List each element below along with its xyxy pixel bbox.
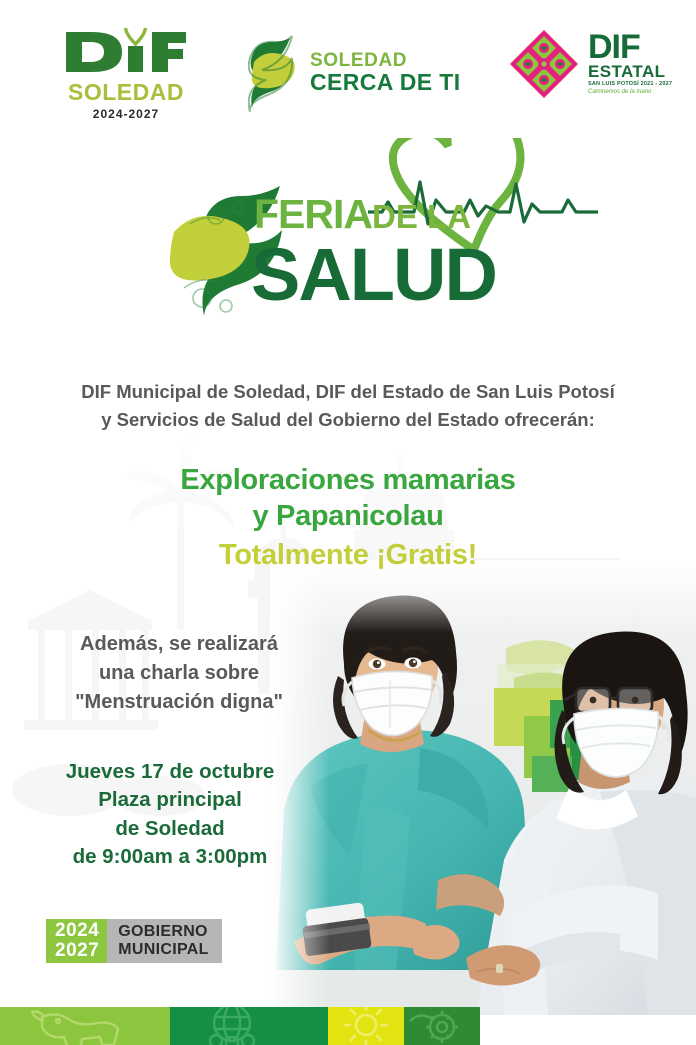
strip-cell-gear xyxy=(404,1007,480,1045)
intro-line-1: DIF Municipal de Soledad, DIF del Estado… xyxy=(0,378,696,406)
header-logos: SOLEDAD 2024-2027 SOLEDAD CERCA DE TI xyxy=(0,0,696,132)
dif-estatal-state-years: SAN LUIS POTOSÍ 2021 - 2027 xyxy=(588,81,672,89)
extra-line-1: Además, se realizará xyxy=(14,630,344,659)
gov-year-to: 2027 xyxy=(55,941,99,961)
soledad-label: SOLEDAD xyxy=(310,51,461,70)
dif-wordmark-icon xyxy=(62,28,190,76)
service-line-2: y Papanicolau xyxy=(0,498,696,534)
service-free-label: Totalmente ¡Gratis! xyxy=(0,537,696,575)
dif-soledad-logo: SOLEDAD 2024-2027 xyxy=(62,28,190,121)
dif-soledad-subtitle: SOLEDAD xyxy=(62,81,190,104)
title-feria-word: FERIA xyxy=(254,191,372,237)
embroidery-cross-icon xyxy=(508,28,580,100)
event-place-line-1: Plaza principal xyxy=(14,786,326,814)
gear-icon xyxy=(404,1007,480,1045)
event-details: Jueves 17 de octubre Plaza principal de … xyxy=(14,758,326,871)
gobierno-municipal-badge: 2024 2027 GOBIERNO MUNICIPAL xyxy=(46,919,222,963)
title-line-2: SALUD xyxy=(251,238,496,312)
gov-name-line-2: MUNICIPAL xyxy=(118,941,208,959)
dif-estatal-logo: DIF ESTATAL SAN LUIS POTOSÍ 2021 - 2027 … xyxy=(508,28,676,100)
strip-cell-cow xyxy=(0,1007,170,1045)
globe-icon xyxy=(170,1007,328,1045)
cerca-de-ti-label: CERCA DE TI xyxy=(310,70,461,94)
extra-line-2: una charla sobre xyxy=(14,659,344,688)
event-date: Jueves 17 de octubre xyxy=(14,758,326,786)
sun-icon xyxy=(328,1007,404,1045)
intro-line-2: y Servicios de Salud del Gobierno del Es… xyxy=(0,406,696,434)
dif-soledad-years: 2024-2027 xyxy=(62,107,190,121)
s-ribbon-icon xyxy=(248,34,298,112)
services-text: Exploraciones mamarias y Papanicolau Tot… xyxy=(0,462,696,574)
strip-cell-sun xyxy=(328,1007,404,1045)
soledad-cerca-de-ti-logo: SOLEDAD CERCA DE TI xyxy=(248,34,470,112)
bottom-color-strip xyxy=(0,1007,696,1045)
dif-estatal-estatal-label: ESTATAL xyxy=(588,63,672,80)
intro-text: DIF Municipal de Soledad, DIF del Estado… xyxy=(0,378,696,434)
title-line-1: FERIADE LA xyxy=(254,194,471,235)
extra-activity-text: Además, se realizará una charla sobre "M… xyxy=(14,630,344,717)
gov-badge-name: GOBIERNO MUNICIPAL xyxy=(107,919,221,963)
title-dela-word: DE LA xyxy=(372,198,471,235)
strip-cell-globe xyxy=(170,1007,328,1045)
gov-name-line-1: GOBIERNO xyxy=(118,923,208,941)
event-place-line-2: de Soledad xyxy=(14,815,326,843)
service-line-1: Exploraciones mamarias xyxy=(0,462,696,498)
gov-badge-years: 2024 2027 xyxy=(46,919,107,963)
poster-root: SOLEDAD 2024-2027 SOLEDAD CERCA DE TI xyxy=(0,0,696,1045)
extra-line-3: "Menstruación digna" xyxy=(14,688,344,717)
health-exam-photo xyxy=(270,560,696,1015)
event-hours: de 9:00am a 3:00pm xyxy=(14,843,326,871)
cow-icon xyxy=(0,1007,170,1045)
gov-year-from: 2024 xyxy=(55,921,99,941)
dif-estatal-dif-label: DIF xyxy=(588,32,672,63)
dif-estatal-slogan: Caminemos de la mano xyxy=(588,89,672,97)
poster-title: FERIADE LA SALUD xyxy=(0,138,696,338)
